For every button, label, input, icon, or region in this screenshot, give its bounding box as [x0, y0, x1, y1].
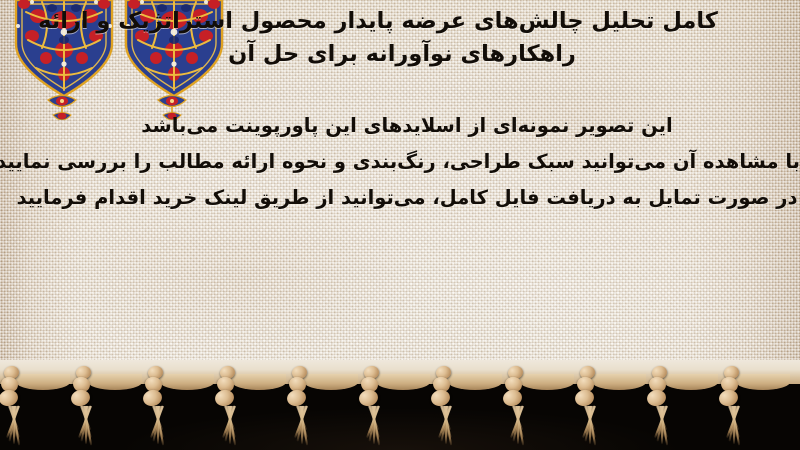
- slide-text-layer: کامل تحلیل چالش‌های عرضه پایدار محصول اس…: [0, 0, 800, 386]
- fringe-tassel: [570, 364, 616, 450]
- tassel-strands: [646, 406, 680, 450]
- fringe-tassel: [714, 364, 760, 450]
- body-line-2: با مشاهده آن می‌توانید سبک طراحی، رنگ‌بن…: [14, 144, 800, 180]
- slide-body: این تصویر نمونه‌ای از اسلایدهای این پاور…: [14, 108, 800, 216]
- title-line-1: کامل تحلیل چالش‌های عرضه پایدار محصول اس…: [22, 5, 782, 38]
- tassel-strands: [286, 406, 320, 450]
- tassel-strands: [502, 406, 536, 450]
- tassel-strands: [718, 406, 752, 450]
- body-line-1: این تصویر نمونه‌ای از اسلایدهای این پاور…: [14, 108, 800, 144]
- tassel-strands: [0, 406, 32, 450]
- slide-canvas: کامل تحلیل چالش‌های عرضه پایدار محصول اس…: [0, 0, 800, 450]
- tassel-strands: [70, 406, 104, 450]
- fringe-tassel: [282, 364, 328, 450]
- slide-title: کامل تحلیل چالش‌های عرضه پایدار محصول اس…: [22, 5, 782, 71]
- tassel-knot-stack: [0, 364, 40, 412]
- tassel-strands: [214, 406, 248, 450]
- fringe-tassel: [210, 364, 256, 450]
- carpet-fringe: [0, 360, 800, 450]
- body-line-3: در صورت تمایل به دریافت فایل کامل، می‌تو…: [14, 180, 800, 216]
- fringe-tassel: [66, 364, 112, 450]
- tassel-strands: [358, 406, 392, 450]
- tassel-strands: [574, 406, 608, 450]
- fringe-tassel: [138, 364, 184, 450]
- fringe-tassel: [0, 364, 40, 450]
- tassel-strands: [142, 406, 176, 450]
- tassel-row: [0, 364, 800, 450]
- title-line-2: راهکارهای نوآورانه برای حل آن: [22, 38, 782, 71]
- fringe-tassel: [498, 364, 544, 450]
- fringe-tassel: [426, 364, 472, 450]
- fringe-tassel: [642, 364, 688, 450]
- fringe-tassel: [354, 364, 400, 450]
- tassel-strands: [430, 406, 464, 450]
